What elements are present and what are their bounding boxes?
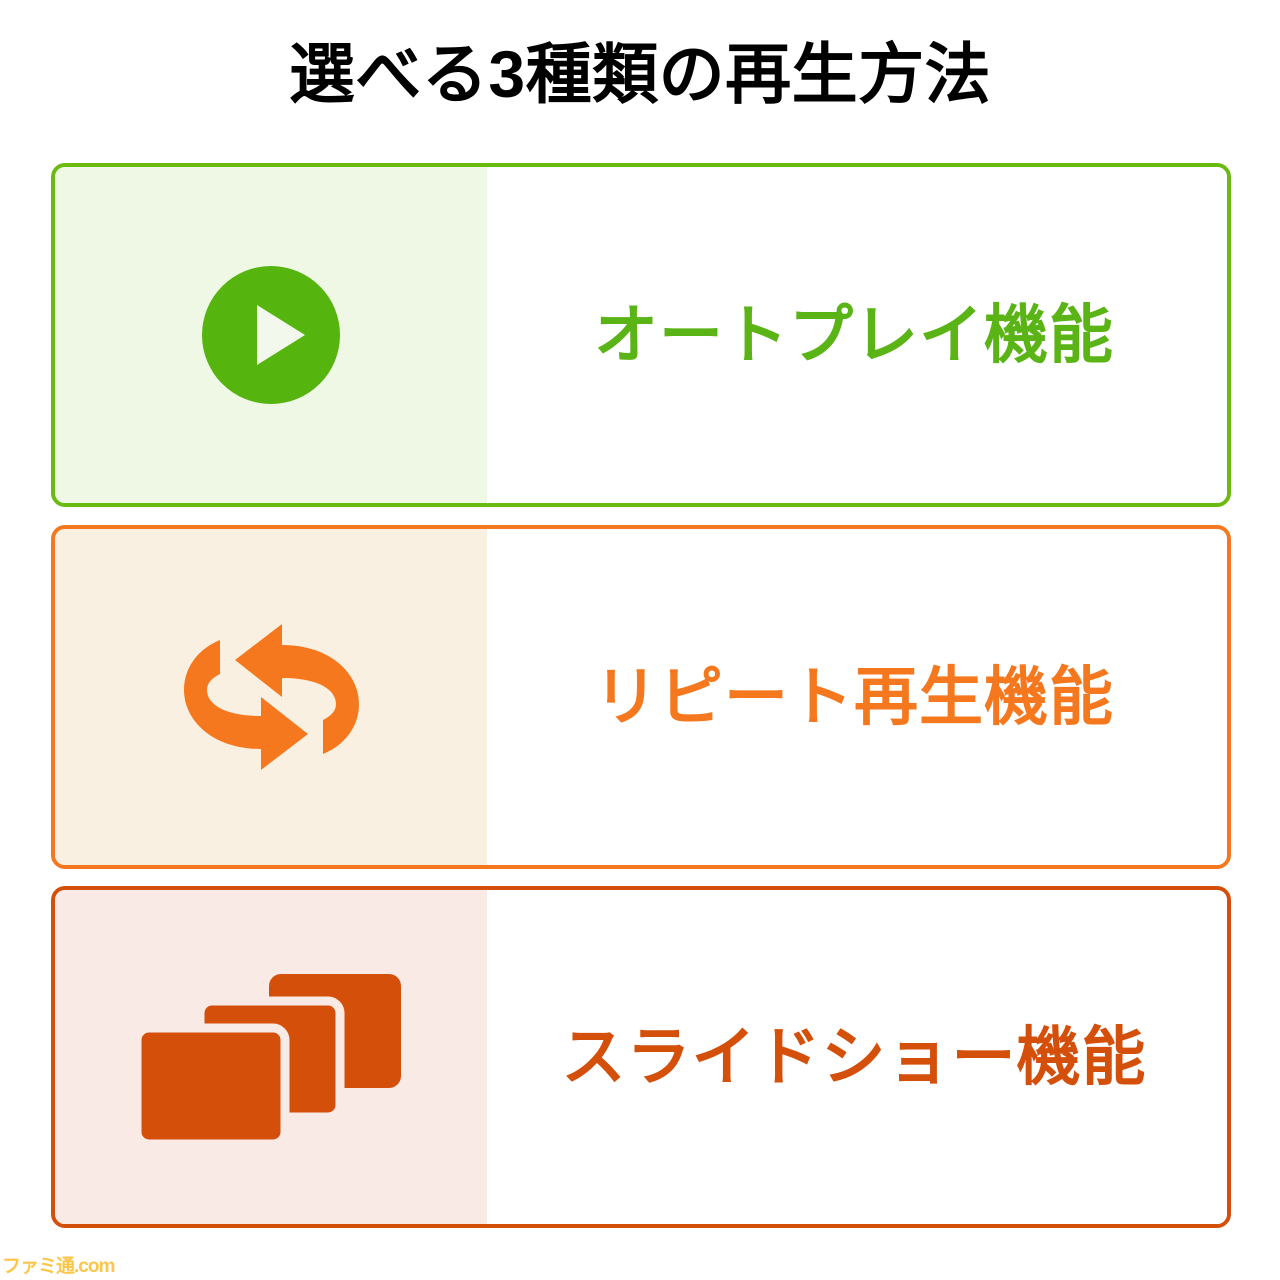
play-circle-icon bbox=[201, 265, 341, 405]
feature-label-autoplay: オートプレイ機能 bbox=[594, 303, 1114, 367]
label-panel-repeat: リピート再生機能 bbox=[487, 529, 1227, 865]
feature-label-slideshow: スライドショー機能 bbox=[562, 1025, 1147, 1089]
feature-card-slideshow[interactable]: スライドショー機能 bbox=[51, 886, 1231, 1228]
feature-label-repeat: リピート再生機能 bbox=[594, 665, 1114, 729]
stacked-slides-icon bbox=[133, 966, 409, 1148]
repeat-loop-icon bbox=[173, 612, 369, 782]
icon-panel-autoplay bbox=[55, 167, 487, 503]
playback-modes-infographic: 選べる3種類の再生方法 オートプレイ機能 bbox=[0, 0, 1280, 1280]
label-panel-autoplay: オートプレイ機能 bbox=[487, 167, 1227, 503]
page-title: 選べる3種類の再生方法 bbox=[0, 34, 1280, 114]
feature-card-autoplay[interactable]: オートプレイ機能 bbox=[51, 163, 1231, 507]
label-panel-slideshow: スライドショー機能 bbox=[487, 890, 1227, 1224]
site-watermark: ファミ通.com bbox=[2, 1256, 114, 1278]
icon-panel-repeat bbox=[55, 529, 487, 865]
icon-panel-slideshow bbox=[55, 890, 487, 1224]
feature-card-repeat[interactable]: リピート再生機能 bbox=[51, 525, 1231, 869]
